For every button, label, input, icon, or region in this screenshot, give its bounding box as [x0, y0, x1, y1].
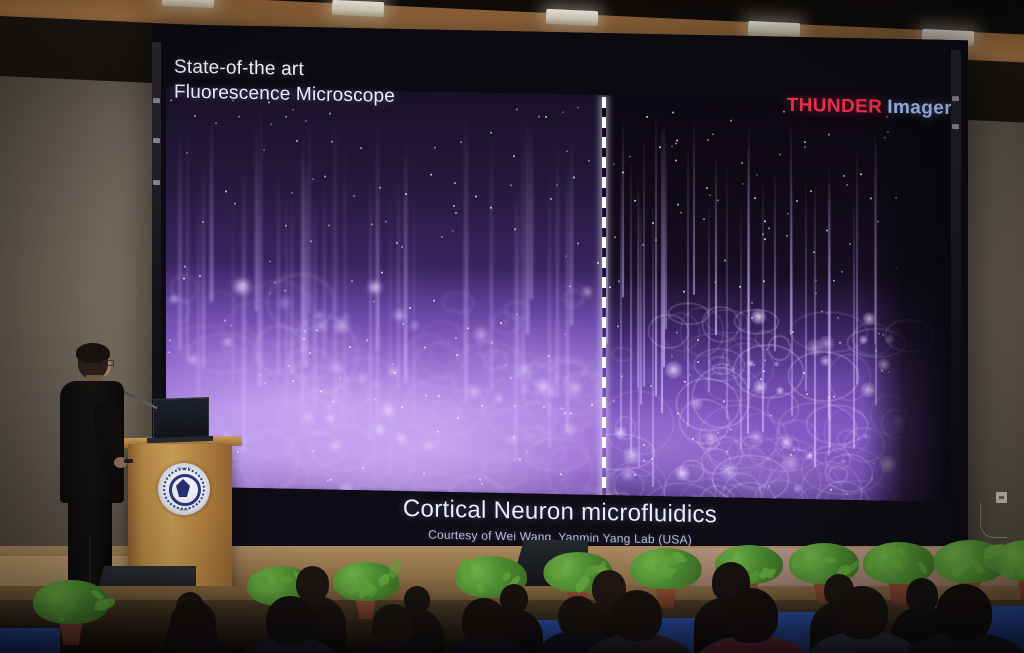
- fluorescent-punctum: [671, 355, 673, 357]
- neuron-cell-body: [170, 295, 178, 303]
- fluorescent-punctum: [324, 175, 326, 177]
- brand-word-imager: Imager: [887, 97, 952, 119]
- fluorescent-punctum: [455, 337, 457, 339]
- fluorescent-punctum: [675, 142, 677, 144]
- fluorescent-punctum: [543, 406, 545, 408]
- neuron-process-arc: [483, 350, 508, 370]
- audience-member-head: [558, 596, 598, 637]
- fluorescent-punctum: [424, 346, 426, 348]
- fluorescent-punctum: [329, 113, 331, 115]
- fluorescent-punctum: [373, 300, 375, 302]
- neurite-filament: [665, 139, 667, 329]
- fluorescent-punctum: [747, 349, 749, 351]
- thunder-imager-logo: THUNDERImager: [787, 95, 952, 120]
- neuron-cell-body: [776, 387, 784, 395]
- fluorescent-punctum: [843, 175, 845, 177]
- fluorescent-punctum: [841, 271, 843, 273]
- neuron-cell-body: [316, 311, 323, 318]
- fluorescent-punctum: [826, 313, 828, 315]
- fluorescent-punctum: [374, 398, 376, 400]
- fluorescent-punctum: [457, 417, 459, 419]
- fluorescent-punctum: [284, 290, 286, 292]
- fluorescent-punctum: [809, 454, 811, 456]
- projection-screen: State-of-the art Fluorescence Microscope…: [152, 24, 968, 570]
- neurite-filament: [255, 126, 258, 311]
- fluorescent-punctum: [309, 352, 311, 354]
- fluorescent-punctum: [481, 405, 483, 407]
- fluorescent-punctum: [839, 342, 841, 344]
- plant-leaf: [501, 572, 511, 581]
- fluorescent-punctum: [479, 479, 481, 481]
- fluorescent-punctum: [655, 239, 657, 241]
- fluorescent-punctum: [763, 370, 765, 372]
- neuron-cell-body: [623, 446, 641, 464]
- fluorescent-punctum: [815, 292, 817, 294]
- fluorescent-punctum: [692, 438, 694, 440]
- fluorescent-punctum: [766, 348, 768, 350]
- fluorescent-punctum: [467, 327, 469, 329]
- plant-leaf: [725, 552, 734, 561]
- fluorescent-punctum: [779, 154, 781, 156]
- fluorescent-punctum: [787, 213, 789, 215]
- fluorescent-punctum: [274, 281, 276, 283]
- fluorescent-punctum: [646, 116, 648, 118]
- fluorescent-punctum: [651, 458, 653, 460]
- fluorescent-punctum: [332, 401, 334, 403]
- fluorescent-punctum: [753, 364, 755, 366]
- fluorescent-punctum: [381, 272, 383, 274]
- fluorescent-punctum: [405, 193, 407, 195]
- audience-member-head: [170, 600, 216, 647]
- fluorescent-punctum: [652, 222, 654, 224]
- neuron-cell-body: [818, 335, 834, 351]
- fluorescent-punctum: [330, 479, 332, 481]
- fluorescent-punctum: [441, 236, 443, 238]
- fluorescent-punctum: [481, 483, 483, 485]
- fluorescent-punctum: [455, 212, 457, 214]
- fluorescent-punctum: [569, 285, 571, 287]
- brand-word-thunder: THUNDER: [787, 95, 883, 118]
- fluorescent-punctum: [703, 218, 705, 220]
- fluorescent-punctum: [739, 286, 741, 288]
- fluorescent-punctum: [452, 230, 454, 232]
- neurite-filament: [640, 208, 642, 405]
- fluorescent-punctum: [577, 243, 579, 245]
- fluorescent-punctum: [730, 429, 732, 431]
- fluorescent-punctum: [762, 233, 764, 235]
- neurite-filament: [606, 122, 608, 343]
- neuron-cell-body: [547, 388, 557, 398]
- neuron-cell-body: [358, 372, 368, 382]
- neuron-cell-body: [301, 410, 315, 424]
- audience-member-head: [404, 586, 430, 613]
- fluorescent-punctum: [169, 339, 171, 341]
- fluorescent-punctum: [269, 260, 271, 262]
- fluorescent-punctum: [331, 141, 333, 143]
- fluorescent-punctum: [680, 212, 682, 214]
- fluorescent-punctum: [259, 374, 261, 376]
- fluorescent-punctum: [433, 300, 435, 302]
- fluorescent-punctum: [453, 205, 455, 207]
- projected-slide: State-of-the art Fluorescence Microscope…: [152, 24, 968, 570]
- fluorescent-punctum: [351, 280, 353, 282]
- neuron-process-arc: [442, 292, 474, 314]
- plant-leaf: [917, 561, 927, 575]
- fluorescent-punctum: [768, 485, 770, 487]
- fluorescent-punctum: [550, 198, 552, 200]
- audience-member-head: [462, 598, 506, 643]
- fluorescent-punctum: [434, 147, 436, 149]
- fluorescent-punctum: [456, 354, 458, 356]
- fluorescent-punctum: [438, 395, 440, 397]
- neuron-cell-body: [333, 318, 350, 335]
- audience-member-head: [372, 604, 414, 647]
- fluorescent-punctum: [697, 361, 699, 363]
- fluorescent-punctum: [806, 393, 808, 395]
- audience-member-head: [936, 584, 992, 641]
- fluorescent-punctum: [230, 325, 232, 327]
- fluorescent-punctum: [621, 375, 623, 377]
- fluorescent-punctum: [689, 374, 691, 376]
- fluorescent-punctum: [385, 221, 387, 223]
- neurite-filament: [693, 121, 695, 294]
- fluorescent-punctum: [514, 228, 516, 230]
- fluorescent-punctum: [389, 409, 391, 411]
- fluorescent-punctum: [360, 147, 362, 149]
- fluorescent-punctum: [804, 146, 806, 148]
- fluorescent-punctum: [500, 322, 502, 324]
- plant-leaf: [48, 581, 62, 595]
- fluorescent-punctum: [362, 467, 364, 469]
- neuron-cell-body: [753, 380, 767, 394]
- fluorescent-punctum: [643, 444, 645, 446]
- audience-member-head: [836, 586, 888, 639]
- fluorescent-punctum: [717, 431, 719, 433]
- neuron-cell-body: [373, 422, 387, 436]
- neurite-filament: [622, 121, 624, 297]
- fluorescent-punctum: [304, 330, 306, 332]
- fluorescent-punctum: [828, 397, 830, 399]
- fluorescent-punctum: [573, 176, 575, 178]
- fluorescent-punctum: [643, 460, 645, 462]
- fluorescent-punctum: [815, 279, 817, 281]
- fluorescent-punctum: [263, 149, 265, 151]
- fluorescent-punctum: [723, 400, 725, 402]
- fluorescent-punctum: [712, 133, 714, 135]
- fluorescent-punctum: [768, 227, 770, 229]
- plant-leaf: [1001, 565, 1015, 579]
- fluorescent-punctum: [238, 116, 240, 118]
- fluorescent-punctum: [803, 372, 805, 374]
- fluorescent-punctum: [629, 156, 631, 158]
- fluorescent-punctum: [813, 251, 815, 253]
- fluorescent-punctum: [202, 221, 204, 223]
- fluorescent-punctum: [659, 146, 661, 148]
- fluorescent-punctum: [285, 225, 287, 227]
- fluorescent-punctum: [292, 109, 294, 111]
- fluorescent-punctum: [783, 111, 785, 113]
- fluorescent-punctum: [676, 140, 678, 142]
- plant-foliage: [333, 562, 399, 601]
- wall-outlet: [996, 492, 1007, 503]
- fluorescent-punctum: [225, 190, 227, 192]
- fluorescent-punctum: [475, 195, 477, 197]
- fluorescent-punctum: [724, 259, 726, 261]
- audience-member-head: [724, 588, 778, 643]
- neuron-process-arc: [310, 423, 375, 471]
- fluorescent-punctum: [430, 174, 432, 176]
- neuron-cell-body: [379, 402, 397, 420]
- fluorescent-punctum: [730, 120, 732, 122]
- fluorescent-punctum: [676, 332, 678, 334]
- fluorescent-punctum: [564, 333, 566, 335]
- fluorescent-punctum: [320, 390, 322, 392]
- fluorescent-punctum: [697, 339, 699, 341]
- microscopy-panel-right: [603, 95, 954, 502]
- neuron-cell-body: [223, 337, 232, 346]
- fluorescent-punctum: [714, 281, 716, 283]
- fluorescent-punctum: [516, 108, 518, 110]
- fluorescent-punctum: [305, 120, 307, 122]
- fluorescent-punctum: [672, 111, 674, 113]
- fluorescent-punctum: [849, 243, 851, 245]
- neuron-cell-body: [690, 397, 703, 410]
- neurite-filament: [397, 178, 400, 390]
- fluorescent-punctum: [565, 255, 567, 257]
- neurite-filament: [210, 121, 213, 302]
- fluorescent-punctum: [186, 152, 188, 154]
- fluorescent-punctum: [379, 187, 381, 189]
- fluorescent-punctum: [560, 473, 562, 475]
- neuron-cell-body: [720, 462, 738, 480]
- fluorescent-punctum: [312, 450, 314, 452]
- audience-member-head: [612, 590, 662, 641]
- fluorescent-punctum: [790, 454, 792, 456]
- fluorescent-punctum: [751, 302, 753, 304]
- fluorescent-punctum: [617, 325, 619, 327]
- plant-leaf: [896, 546, 905, 557]
- fluorescent-punctum: [526, 451, 528, 453]
- fluorescent-punctum: [726, 451, 728, 453]
- fluorescent-punctum: [312, 178, 314, 180]
- fluorescent-punctum: [460, 141, 462, 143]
- fluorescent-punctum: [516, 313, 518, 315]
- neuron-cell-body: [423, 439, 435, 451]
- fluorescent-punctum: [560, 407, 562, 409]
- neuron-cell-body: [518, 363, 531, 376]
- presenter: [52, 345, 138, 595]
- fluorescent-punctum: [285, 116, 287, 118]
- fluorescent-punctum: [170, 99, 172, 101]
- fluorescent-punctum: [264, 382, 266, 384]
- fluorescent-punctum: [296, 140, 298, 142]
- fluorescent-punctum: [754, 197, 756, 199]
- fluorescent-punctum: [613, 400, 615, 402]
- fluorescent-punctum: [168, 351, 170, 353]
- fluorescent-punctum: [634, 474, 636, 476]
- fluorescent-punctum: [505, 364, 507, 366]
- neuron-process-arc: [339, 357, 397, 402]
- fluorescent-punctum: [510, 184, 512, 186]
- fluorescent-punctum: [706, 187, 708, 189]
- neurite-filament: [661, 131, 663, 414]
- fluorescent-punctum: [622, 171, 624, 173]
- fluorescent-punctum: [242, 283, 244, 285]
- fluorescent-punctum: [310, 240, 312, 242]
- fluorescent-punctum: [833, 396, 835, 398]
- fluorescent-punctum: [741, 162, 743, 164]
- fluorescent-punctum: [614, 236, 616, 238]
- fluorescent-punctum: [810, 190, 812, 192]
- fluorescent-punctum: [423, 472, 425, 474]
- fluorescent-punctum: [538, 116, 540, 118]
- neuron-cell-body: [467, 385, 481, 399]
- neuron-cell-body: [614, 426, 627, 439]
- fluorescent-punctum: [548, 355, 550, 357]
- fluorescent-punctum: [327, 480, 329, 482]
- fluorescent-punctum: [570, 412, 572, 414]
- fluorescent-punctum: [402, 323, 404, 325]
- fluorescent-punctum: [577, 107, 579, 109]
- fluorescent-punctum: [742, 183, 744, 185]
- emblem-text-bottom: ••••••: [158, 508, 210, 512]
- fluorescent-punctum: [826, 230, 828, 232]
- potted-plant: [990, 540, 1024, 605]
- fluorescent-punctum: [270, 123, 272, 125]
- neuron-cell-body: [368, 280, 382, 294]
- neuron-process-arc: [515, 401, 556, 437]
- fluorescent-punctum: [770, 414, 772, 416]
- neuron-process-arc: [482, 456, 527, 488]
- microscopy-image: [166, 86, 954, 502]
- fluorescent-punctum: [401, 246, 403, 248]
- fluorescent-punctum: [291, 192, 293, 194]
- neuron-cell-body: [473, 326, 489, 342]
- fluorescent-punctum: [764, 238, 766, 240]
- plant-foliage: [631, 548, 702, 589]
- fluorescent-punctum: [353, 195, 355, 197]
- fluorescent-punctum: [618, 280, 620, 282]
- fluorescent-punctum: [510, 377, 512, 379]
- fluorescent-punctum: [764, 359, 766, 361]
- neuron-process-arc: [404, 333, 451, 387]
- fluorescent-punctum: [609, 286, 611, 288]
- plant-leaf: [991, 543, 1006, 556]
- neuron-cell-body: [675, 465, 690, 480]
- plant-leaf: [749, 571, 759, 583]
- fluorescent-punctum: [760, 378, 762, 380]
- neurite-filament: [643, 141, 645, 386]
- plant-foliage: [33, 580, 109, 624]
- plant-leaf: [280, 577, 293, 583]
- fluorescent-punctum: [846, 493, 848, 495]
- fluorescent-punctum: [513, 436, 515, 438]
- neuron-cell-body: [820, 355, 831, 366]
- fluorescent-punctum: [425, 394, 427, 396]
- fluorescent-punctum: [491, 342, 493, 344]
- fluorescent-punctum: [234, 203, 236, 205]
- presentation-clicker: [124, 459, 133, 463]
- neuron-cell-body: [704, 431, 718, 445]
- fluorescent-punctum: [292, 380, 294, 382]
- neurite-filament: [655, 118, 657, 396]
- fluorescent-punctum: [328, 225, 330, 227]
- power-cable: [980, 503, 1007, 538]
- fluorescent-punctum: [316, 329, 318, 331]
- fluorescent-punctum: [684, 381, 686, 383]
- fluorescent-punctum: [237, 451, 239, 453]
- fluorescent-punctum: [184, 266, 186, 268]
- fluorescent-punctum: [490, 207, 492, 209]
- fluorescent-punctum: [830, 489, 832, 491]
- fluorescent-punctum: [392, 363, 394, 365]
- fluorescent-punctum: [837, 317, 839, 319]
- university-emblem: •••••••• ••••••: [158, 463, 210, 515]
- fluorescent-punctum: [671, 145, 673, 147]
- fluorescent-punctum: [394, 372, 396, 374]
- neuron-process-arc: [612, 347, 633, 361]
- fluorescent-punctum: [396, 242, 398, 244]
- fluorescent-punctum: [401, 406, 403, 408]
- screen-right-edge: [951, 50, 961, 550]
- fluorescent-punctum: [519, 458, 521, 460]
- audience-member-head: [500, 584, 528, 613]
- neuron-cell-body: [329, 440, 342, 453]
- ceiling-light-icon: [332, 0, 385, 17]
- fluorescent-punctum: [796, 200, 798, 202]
- neuron-cell-body: [751, 309, 766, 324]
- fluorescent-punctum: [792, 331, 794, 333]
- fluorescent-punctum: [751, 317, 753, 319]
- fluorescent-punctum: [224, 319, 226, 321]
- fluorescent-punctum: [846, 184, 848, 186]
- fluorescent-punctum: [683, 291, 685, 293]
- plant-leaf: [572, 574, 592, 593]
- fluorescent-punctum: [677, 204, 679, 206]
- fluorescent-punctum: [556, 184, 558, 186]
- fluorescent-punctum: [349, 346, 351, 348]
- slide-title: State-of-the art Fluorescence Microscope: [174, 54, 395, 108]
- neuron-cell-body: [410, 321, 419, 330]
- plant-leaf: [475, 582, 486, 593]
- neuron-cell-body: [233, 278, 251, 296]
- audience-member-head: [266, 596, 314, 645]
- fluorescent-punctum: [566, 150, 568, 152]
- neuron-cell-body: [331, 361, 344, 374]
- neurite-filament: [530, 126, 533, 300]
- fluorescent-punctum: [194, 115, 196, 117]
- neuron-cell-body: [396, 433, 407, 444]
- fluorescent-punctum: [514, 405, 516, 407]
- comparison-divider: [602, 97, 606, 502]
- plant-leaf: [552, 558, 566, 572]
- fluorescent-punctum: [303, 338, 305, 340]
- fluorescent-punctum: [717, 199, 719, 201]
- fluorescent-punctum: [371, 223, 373, 225]
- fluorescent-punctum: [409, 307, 411, 309]
- fluorescent-punctum: [833, 280, 835, 282]
- fluorescent-punctum: [454, 182, 456, 184]
- fluorescent-punctum: [677, 413, 679, 415]
- fluorescent-punctum: [793, 449, 795, 451]
- fluorescent-punctum: [562, 111, 564, 113]
- neuron-cell-body: [665, 361, 682, 378]
- neuron-process-arc: [203, 291, 237, 326]
- fluorescent-punctum: [545, 116, 547, 118]
- microscopy-panel-left: [166, 86, 603, 495]
- fluorescent-punctum: [562, 408, 564, 410]
- fluorescent-punctum: [597, 262, 599, 264]
